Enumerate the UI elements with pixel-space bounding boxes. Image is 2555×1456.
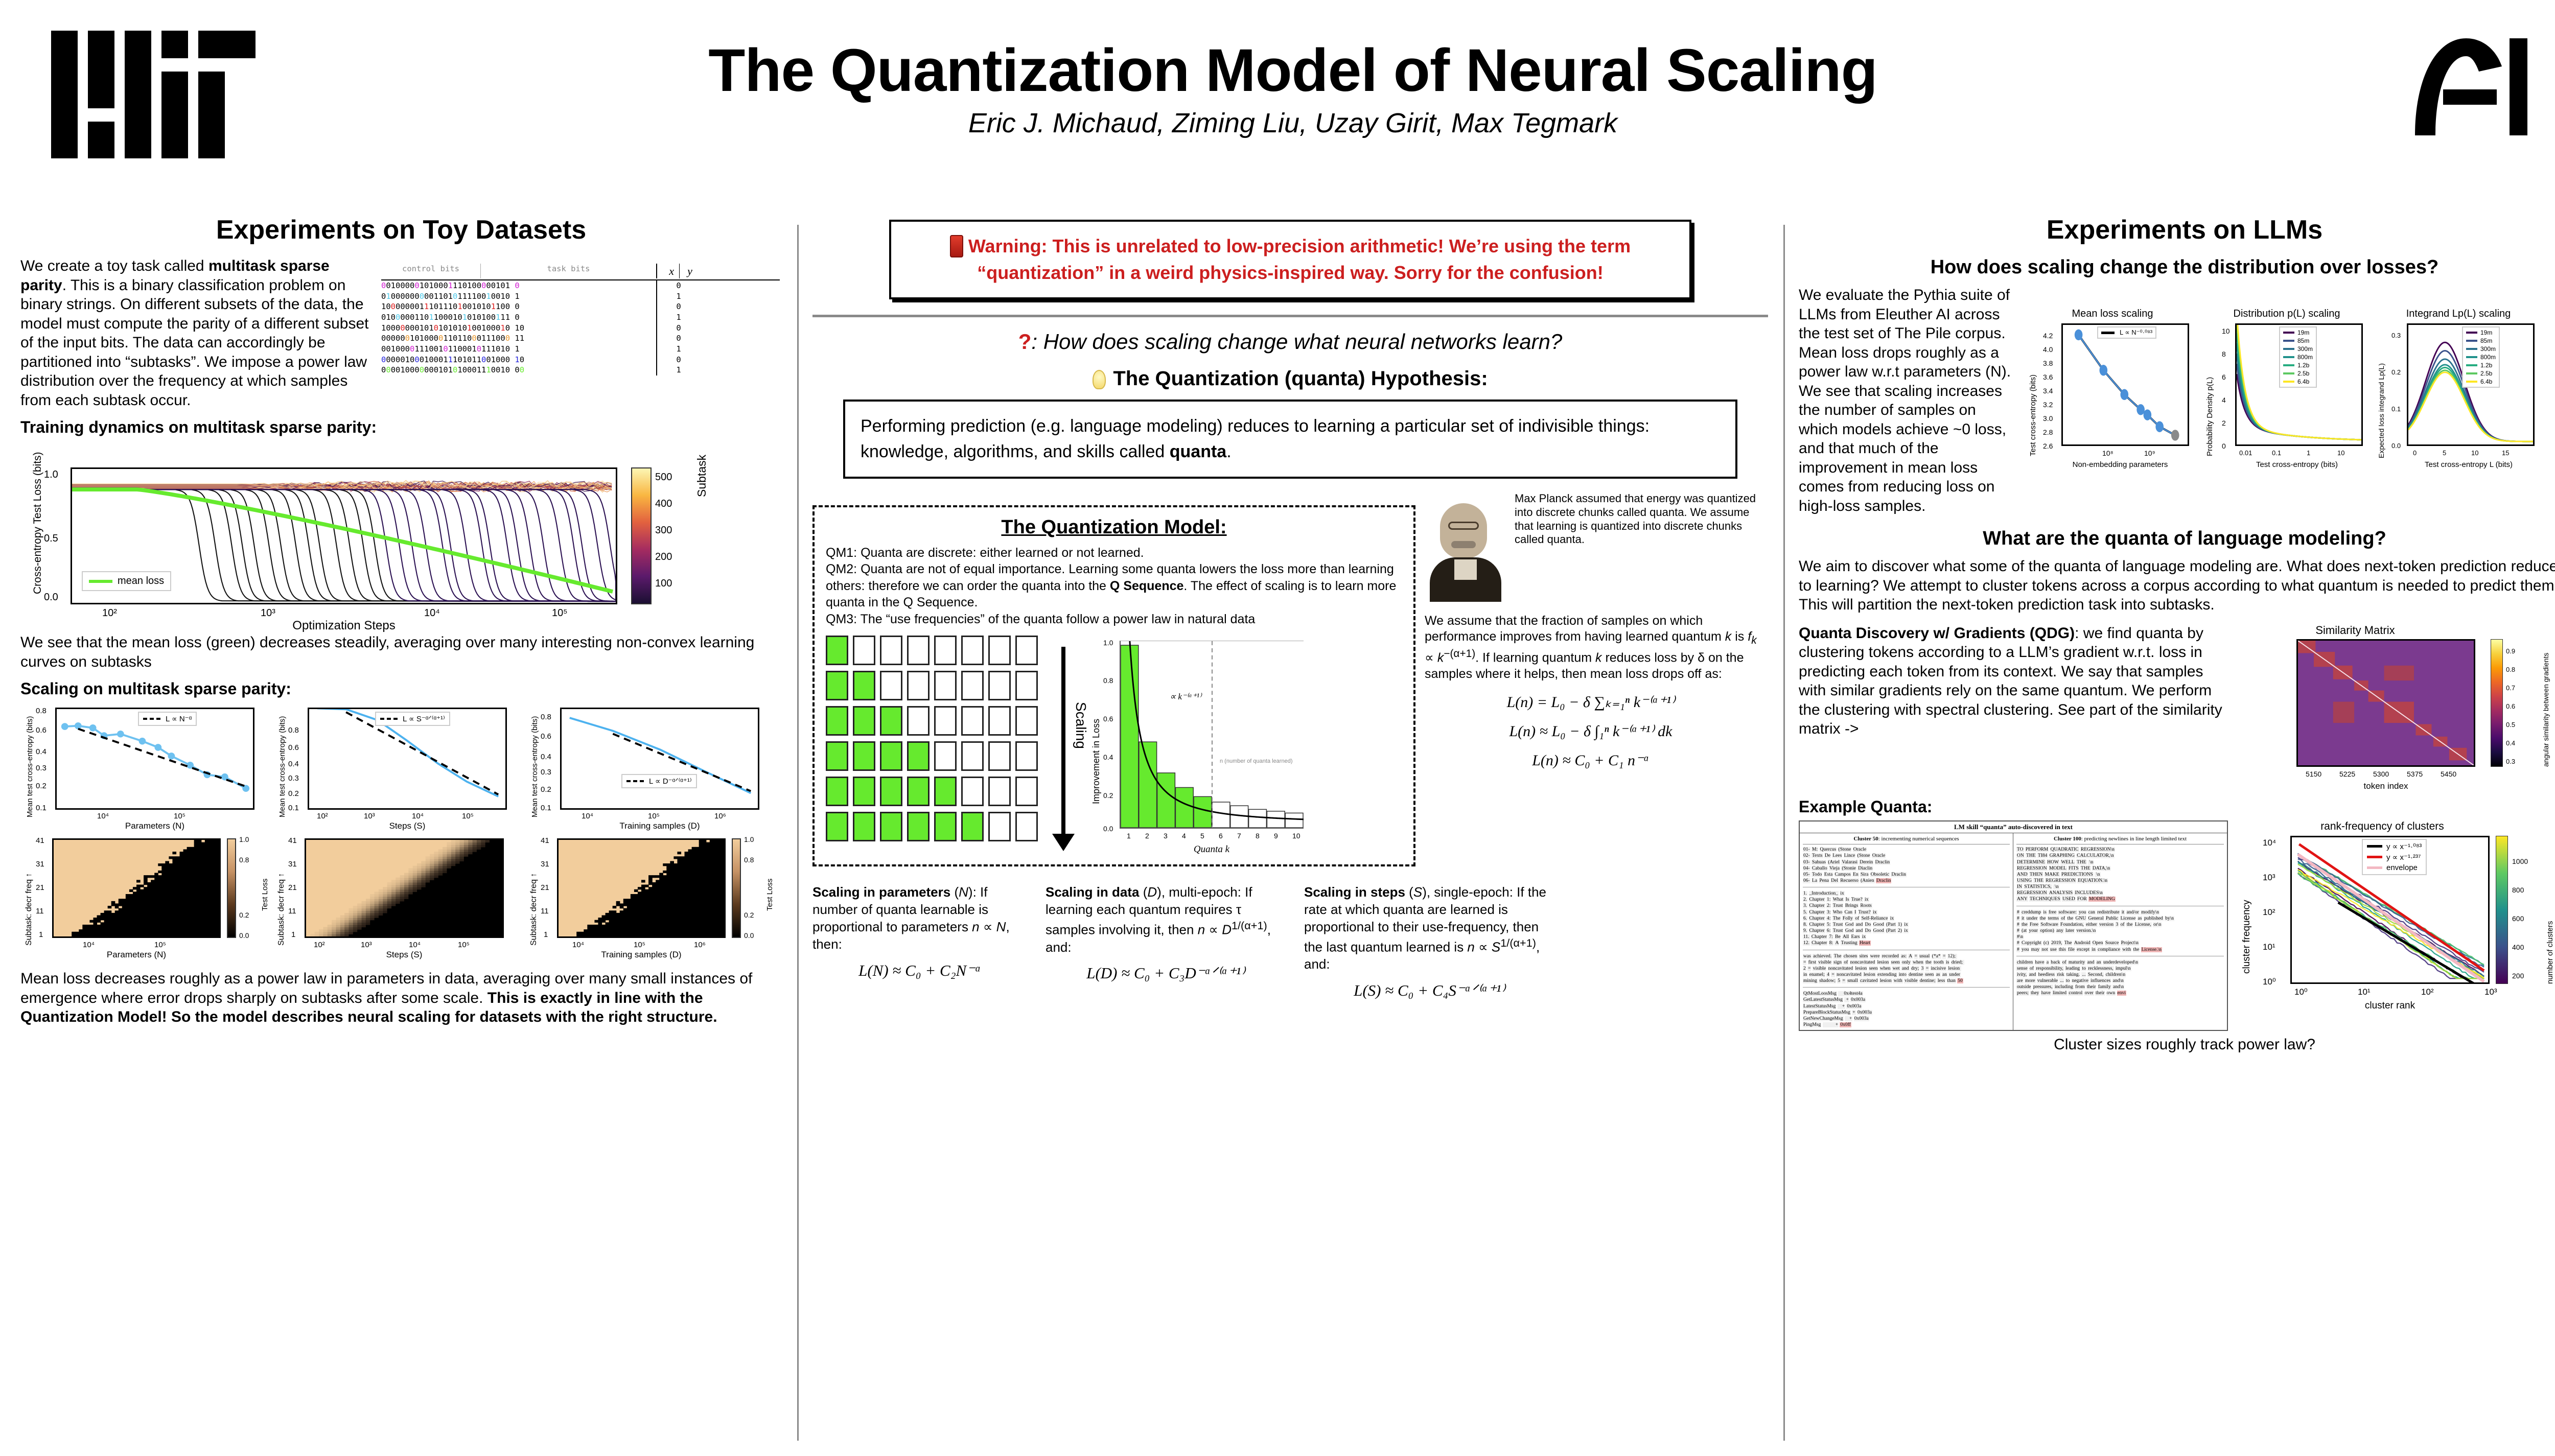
hd-plot [557, 838, 726, 938]
mls-legend: L ∝ N⁻⁰·⁰⁸³ [2097, 326, 2156, 339]
llm-charts-row: Mean loss scaling Test cross-entropy (bi… [2026, 308, 2543, 477]
sd-legend-label: L ∝ D⁻ᵅᐟ⁽ᵅ⁺¹⁾ [649, 777, 692, 786]
quanta-text-line: 3. Chapter 2: Trust Brings Roots [1803, 903, 2010, 909]
pl-legend: 19m85m300m800m1.2b2.5b6.4b [2279, 326, 2317, 388]
hs-plot [305, 838, 504, 938]
quantum-learned [853, 741, 875, 771]
mls-title: Mean loss scaling [2026, 308, 2199, 320]
lpl-legend-entry: 800m [2466, 354, 2496, 361]
sim-cb-tick: 0.3 [2506, 758, 2515, 765]
sp-xt-2: 10⁵ [174, 812, 185, 820]
quantum-learned [907, 741, 930, 771]
ai-logo [2405, 28, 2533, 146]
lpl-xt-2: 5 [2443, 449, 2446, 457]
bit-string: 001000011100101100010111010 1 [381, 344, 657, 355]
quanta-text-line: 06- La Pena Del Recuerso (Anien Draclin [1803, 878, 2010, 884]
quanta-text-line: ON THE TI84 GRAPHING CALCULATOR,\n [2016, 853, 2224, 859]
quantum-learned [826, 777, 848, 806]
left-column-title: Experiments on Toy Datasets [20, 215, 782, 245]
table-cell-y: 1 [657, 344, 700, 355]
cbar-tick-100: 100 [655, 578, 672, 590]
xtick-4: 10⁵ [552, 607, 568, 619]
pl-xt-4: 10 [2337, 449, 2344, 457]
bit-string: 000001000100011101011001000 10 [381, 355, 657, 365]
pl-ytick: 10 [2222, 327, 2230, 335]
bit-table-header: control bits task bits x y [381, 264, 780, 280]
mls-ytick: 3.2 [2043, 401, 2053, 409]
rf-ytick: 10¹ [2263, 942, 2275, 952]
lpl-legend-entry: 6.4b [2466, 378, 2492, 385]
il-plot [1120, 641, 1304, 829]
col-header-x: x [657, 264, 680, 278]
lpl-ytick: 0.3 [2391, 332, 2401, 339]
hs-xt-4: 10⁵ [458, 941, 470, 949]
quanta-text-line: AND THEN MAKE PREDICTIONS \n [2016, 872, 2224, 878]
quantum-learned [880, 812, 902, 841]
sim-xtick: 5450 [2441, 770, 2456, 778]
hd-xlabel: Training samples (D) [557, 950, 726, 960]
sp-yt-08: 0.8 [36, 707, 47, 715]
qm-item-2: QM2: Quanta are not of equal importance.… [826, 561, 1402, 611]
table-cell-y: 1 [657, 365, 700, 375]
warning-box: Warning: This is unrelated to low-precis… [889, 220, 1691, 299]
figure-integrand-LpL: Integrand Lp(L) scaling Expected loss in… [2374, 308, 2543, 477]
sd-yt-08: 0.8 [541, 713, 551, 721]
mls-ylabel: Test cross-entropy (bits) [2029, 374, 2037, 456]
ss-legend: L ∝ S⁻ᵅᐟ⁽ᵅ⁺¹⁾ [375, 712, 450, 726]
quanta-text-line: are more vulnerable ... to negative infl… [2016, 978, 2224, 984]
quantum-unlearned [934, 671, 957, 700]
ss-yt-06: 0.6 [288, 743, 299, 752]
left-column: Experiments on Toy Datasets We create a … [20, 215, 782, 1027]
pl-title: Distribution p(L) scaling [2202, 308, 2371, 320]
quanta-text-line: 2. Chapter 1: What Is True? ix [1803, 897, 2010, 903]
bit-string: 010000011011000101010100111 0 [381, 312, 657, 323]
quantum-unlearned [988, 671, 1011, 700]
quantum-learned [880, 741, 902, 771]
bit-string: 100000001010101010100100010 10 [381, 323, 657, 334]
research-question: ?: How does scaling change what neural n… [812, 330, 1768, 354]
right-sub-title-1: How does scaling change the distribution… [1799, 256, 2555, 278]
mls-xlabel: Non-embedding parameters [2046, 460, 2194, 469]
quantum-unlearned [934, 741, 957, 771]
ytick-3: 0.0 [44, 592, 58, 603]
left-bottom-text: Mean loss decreases roughly as a power l… [20, 969, 782, 1027]
hd-ylabel: Subtask: decr freq ↑ [529, 873, 539, 946]
planck-block: Max Planck assumed that energy was quant… [1425, 492, 1757, 602]
pl-xt-3: 1 [2307, 449, 2310, 457]
lpl-ytick: 0.1 [2391, 405, 2401, 413]
sim-xtick: 5150 [2306, 770, 2321, 778]
poster-header: The Quantization Model of Neural Scaling… [0, 0, 2555, 215]
table-row: 010000000001101011110010010 11 [381, 291, 780, 302]
mls-legend-swatch [2101, 332, 2115, 334]
cluster-50-block-4: QtMostLoosMsg 0x4test4aGetLatestStatusMs… [1803, 991, 2010, 1028]
right-column-title: Experiments on LLMs [1799, 215, 2555, 245]
hs-yt-31: 31 [288, 860, 297, 868]
max-planck-photo [1425, 492, 1506, 602]
hp-yt-41: 41 [36, 836, 44, 845]
sim-cb-tick: 0.9 [2506, 647, 2515, 655]
hp-cb-08: 0.8 [239, 856, 249, 864]
cluster-100-head: Cluster 100: predicting newlines in line… [2016, 835, 2224, 844]
hp-xlabel: Parameters (N) [52, 950, 221, 960]
quantum-learned [907, 777, 930, 806]
warning-text: Warning: This is unrelated to low-precis… [904, 233, 1676, 286]
lpl-title: Integrand Lp(L) scaling [2374, 308, 2543, 320]
hd-yt-11: 11 [541, 907, 549, 915]
right-text-2: We aim to discover what some of the quan… [1799, 557, 2555, 615]
il-yt-04: 0.4 [1103, 753, 1113, 761]
sp-yt-03: 0.3 [36, 764, 47, 772]
pl-ylabel: Probability Density p(L) [2205, 377, 2214, 456]
quanta-text-line: in enamel; 4 = noncavitated lesion exten… [1803, 972, 2010, 978]
figure-similarity-matrix: Similarity Matrix 0.30.40.50.60.70.80.9 … [2235, 624, 2555, 792]
rf-legend-entry: y ∝ x⁻¹·²³⁷ [2367, 853, 2421, 862]
quanta-text-line: # it under the terms of the GNU General … [2016, 915, 2224, 922]
bit-table-body: 001000001010001110100000101 000100000000… [381, 280, 780, 375]
quantum-unlearned [1015, 636, 1038, 665]
figure-scaling-parameters: Mean test cross-entropy (bits) 0.8 0.6 0… [20, 702, 266, 830]
ss-xlabel: Steps (S) [308, 821, 507, 831]
legend-label-mean-loss: mean loss [118, 575, 164, 587]
pl-ytick: 8 [2222, 350, 2226, 358]
bit-string: 001000001010001110100000101 0 [381, 280, 657, 291]
middle-column: Warning: This is unrelated to low-precis… [812, 215, 1768, 1001]
rf-cb-tick: 1000 [2512, 857, 2528, 865]
hs-ylabel: Subtask: decr freq ↑ [277, 873, 286, 946]
quantum-learned [853, 777, 875, 806]
sp-yt-02: 0.2 [36, 782, 47, 790]
training-dynamics-note: We see that the mean loss (green) decrea… [20, 633, 782, 671]
table-cell-y: 0 [657, 280, 700, 291]
right-sub-title-2: What are the quanta of language modeling… [1799, 528, 2555, 550]
cluster-50-head: Cluster 50: incrementing numerical seque… [1803, 835, 2010, 844]
sd-yt-02: 0.2 [541, 785, 551, 794]
warning-battery-icon [950, 235, 963, 257]
quantum-unlearned [961, 777, 984, 806]
cluster-100-block-1: TO PERFORM QUADRATIC REGRESSION\nON THE … [2016, 847, 2224, 902]
rf-ytick: 10⁴ [2263, 838, 2276, 848]
sd-legend-swatch [626, 780, 644, 782]
poster-authors: Eric J. Michaud, Ziming Liu, Uzay Girit,… [327, 107, 2259, 139]
quanta-text-line: REGRESSION ANALYSIS INCLUDES\n [2016, 890, 2224, 896]
il-annotation-2: n (number of quanta learned) [1220, 758, 1307, 764]
table-row: 010000011011000101010100111 01 [381, 312, 780, 323]
quantum-unlearned [1015, 812, 1038, 841]
warning-message: Warning: This is unrelated to low-precis… [968, 236, 1631, 283]
quanta-text-line: sense of responsibility, leading to reck… [2016, 966, 2224, 972]
rf-cb-tick: 200 [2512, 972, 2524, 980]
cluster-100-block-3: children have a back of maturity and an … [2016, 959, 2224, 997]
quantum-unlearned [907, 636, 930, 665]
table-row: 100000001010101010100100010 100 [381, 323, 780, 334]
sim-cb-tick: 0.8 [2506, 666, 2515, 673]
quanta-text-line: 05- Todo Esta Campos En Sira Obsoletic D… [1803, 872, 2010, 878]
il-xtick: 5 [1200, 832, 1204, 840]
ss-xt-4: 10⁵ [462, 812, 474, 820]
hs-yt-1: 1 [291, 930, 295, 939]
col-header-control-bits: control bits [381, 264, 481, 278]
hd-colorbar [732, 838, 741, 938]
hypothesis-heading-text: The Quantization (quanta) Hypothesis: [1113, 367, 1488, 390]
table-row: 000001000100011101011001000 100 [381, 355, 780, 365]
ss-legend-swatch [380, 718, 398, 720]
equation-1: L(n) = L₀ − δ ∑ₖ₌₁ⁿ k⁻⁽ᵅ⁺¹⁾ [1425, 693, 1757, 711]
quantum-learned [853, 706, 875, 736]
hypothesis-box: Performing prediction (e.g. language mod… [843, 400, 1737, 479]
cluster-50-block-3: was achieved. The chosen sites were reco… [1803, 953, 2010, 984]
il-yt-00: 0.0 [1103, 825, 1113, 833]
hp-yt-31: 31 [36, 860, 44, 868]
sp-legend-swatch [143, 718, 160, 720]
table-row: 001000001010001110100000101 00 [381, 280, 780, 291]
figure-training-dynamics: Cross-entropy Test Loss (bits) 1.0 0.5 0… [20, 441, 782, 630]
table-row: 001000011100101100010111010 11 [381, 344, 780, 355]
il-yt-02: 0.2 [1103, 791, 1113, 800]
bit-string: 000010000000101010001110010 00 [381, 365, 657, 375]
hd-xt-2: 10⁵ [634, 941, 645, 949]
quantum-unlearned [988, 706, 1011, 736]
quanta-text-line: 02- Texts De Lees Lince (Stone Oracle [1803, 853, 2010, 859]
lpl-legend: 19m85m300m800m1.2b2.5b6.4b [2462, 326, 2500, 388]
hd-xt-3: 10⁶ [694, 941, 706, 949]
pl-xt-2: 0.1 [2272, 449, 2281, 457]
hp-xt-1: 10⁴ [83, 941, 95, 949]
rf-ytick: 10² [2263, 907, 2275, 918]
lpl-xt-3: 10 [2471, 449, 2478, 457]
hp-ylabel: Subtask: decr freq ↑ [25, 873, 34, 946]
sd-xt-1: 10⁴ [582, 812, 593, 820]
bit-string: 100000001110111010010101100 0 [381, 301, 657, 312]
quanta-text-line: peers; they have limited control over th… [2016, 990, 2224, 996]
quantum-learned [853, 812, 875, 841]
pl-ytick: 6 [2222, 373, 2226, 381]
il-xtick: 6 [1219, 832, 1223, 840]
quantum-learned [826, 706, 848, 736]
quanta-text-line: 9. Chapter 6: Trust God and Do Good (Par… [1803, 928, 2010, 934]
quanta-text-line: 12. Chapter 8: A Trusting Heart [1803, 940, 2010, 946]
lpl-legend-entry: 2.5b [2466, 370, 2492, 377]
ss-yt-01: 0.1 [288, 804, 299, 812]
qdg-text: Quanta Discovery w/ Gradients (QDG): we … [1799, 624, 2228, 739]
hp-yt-11: 11 [36, 907, 44, 915]
pl-ytick: 2 [2222, 419, 2226, 427]
ss-legend-label: L ∝ S⁻ᵅᐟ⁽ᵅ⁺¹⁾ [403, 714, 445, 723]
mls-ytick: 2.8 [2043, 428, 2053, 436]
qm-item-1: QM1: Quanta are discrete: either learned… [826, 545, 1402, 561]
il-xtick: 10 [1292, 832, 1300, 840]
sp-ylabel: Mean test cross-entropy (bits) [26, 716, 34, 817]
quanta-text-line: 6. Chapter 4: The Folly of Self-Reliance… [1803, 915, 2010, 922]
quantum-unlearned [934, 706, 957, 736]
equation-3: L(n) ≈ C₀ + C₁ n⁻ᵅ [1425, 752, 1757, 769]
rf-title: rank-frequency of clusters [2255, 820, 2510, 833]
hd-cb-08: 0.8 [744, 856, 754, 864]
rf-cb-tick: 800 [2512, 886, 2524, 894]
quanta-text-line: TO PERFORM QUADRATIC REGRESSION\n [2016, 847, 2224, 853]
bit-table: control bits task bits x y 0010000010100… [381, 264, 780, 375]
figure-scaling-steps: Mean test cross-entropy (bits) 0.8 0.6 0… [273, 702, 518, 830]
sim-cb-tick: 0.6 [2506, 702, 2515, 710]
quantum-learned [907, 812, 930, 841]
pl-ytick: 4 [2222, 396, 2226, 404]
figure-scaling-data: Mean test cross-entropy (bits) 0.8 0.6 0… [525, 702, 771, 830]
il-xtick: 7 [1237, 832, 1241, 840]
sim-cb-tick: 0.4 [2506, 739, 2515, 747]
bit-string: 000000101000011011000111000 11 [381, 333, 657, 344]
figure-rank-frequency: rank-frequency of clusters cluster frequ… [2234, 820, 2555, 1025]
quanta-text-line: # creddump is free software: you can red… [2016, 909, 2224, 915]
rf-legend-entry: envelope [2367, 863, 2418, 872]
quanta-text-line: DETERMINE HOW WELL THE \n [2016, 859, 2224, 865]
quanta-grid-row [826, 706, 1038, 736]
sim-colorbar [2491, 639, 2503, 767]
quantum-unlearned [880, 636, 902, 665]
hp-xt-2: 10⁵ [154, 941, 166, 949]
ss-ylabel: Mean test cross-entropy (bits) [278, 716, 287, 817]
il-xtick: 8 [1256, 832, 1260, 840]
quantum-unlearned [1015, 741, 1038, 771]
scaling-block-parameters-text: Scaling in parameters (N): If number of … [812, 884, 1027, 953]
training-dynamics-legend: mean loss [82, 571, 171, 591]
quantum-learned [934, 812, 957, 841]
quanta-text-line: = first visible sign of noncavitated les… [1803, 959, 2010, 966]
cbar-tick-400: 400 [655, 498, 672, 510]
sd-plot [560, 708, 759, 810]
table-cell-y: 0 [657, 333, 700, 344]
right-column: Experiments on LLMs How does scaling cha… [1799, 215, 2555, 1053]
cluster-caption: Cluster sizes roughly track power law? [1799, 1036, 2555, 1053]
table-cell-y: 1 [657, 291, 700, 302]
hp-colorbar [227, 838, 236, 938]
training-dynamics-xlabel: Optimization Steps [71, 619, 617, 633]
quanta-table-title: LM skill “quanta” auto-discovered in tex… [1800, 821, 2227, 834]
il-yt-06: 0.6 [1103, 715, 1113, 723]
example-quanta-head: Example Quanta: [1799, 797, 2555, 816]
sp-yt-04: 0.4 [36, 747, 47, 756]
quanta-text-line: PrepareBlockStatusMsg + 0x003a [1803, 1009, 2010, 1016]
sim-cb-tick: 0.5 [2506, 721, 2515, 729]
heatmap-row: Subtask: decr freq ↑ 41 31 21 11 1 1.0 0… [20, 834, 782, 962]
ss-yt-02: 0.2 [288, 789, 299, 798]
section-divider [812, 315, 1768, 317]
quanta-text-line: GetNewChangeMsg + 0x003a [1803, 1016, 2010, 1022]
scaling-block-steps: Scaling in steps (S), single-epoch: If t… [1304, 884, 1554, 1001]
rf-cb-tick: 400 [2512, 943, 2524, 951]
lpl-legend-entry: 300m [2466, 345, 2496, 353]
mit-logo [51, 31, 245, 158]
derivation-text: We assume that the fraction of samples o… [1425, 613, 1757, 682]
pl-legend-entry: 800m [2283, 354, 2313, 361]
scaling-lineplots-row: Mean test cross-entropy (bits) 0.8 0.6 0… [20, 702, 782, 830]
planck-caption: Max Planck assumed that energy was quant… [1515, 492, 1757, 602]
hp-cb-00: 0.0 [239, 931, 249, 940]
lpl-legend-entry: 85m [2466, 337, 2492, 344]
training-dynamics-title: Training dynamics on multitask sparse pa… [20, 418, 782, 437]
pl-legend-entry: 19m [2283, 329, 2309, 336]
mls-ytick: 2.6 [2043, 442, 2053, 450]
rf-colorbar [2496, 836, 2508, 984]
quanta-grid-row [826, 812, 1038, 841]
ss-xt-3: 10⁴ [412, 812, 424, 820]
sim-plot [2296, 639, 2475, 767]
mls-ytick: 4.0 [2043, 345, 2053, 354]
pl-legend-entry: 85m [2283, 337, 2309, 344]
training-dynamics-ylabel: Cross-entropy Test Loss (bits) [32, 452, 44, 594]
hs-yt-41: 41 [288, 836, 297, 845]
figure-improvement-in-loss: Improvement in Loss 1.0 0.8 0.6 0.4 0.2 … [1088, 636, 1313, 855]
hs-xt-2: 10³ [361, 941, 372, 949]
quanta-text-line: 04- Caballo Vieja (Stonie Diaclin [1803, 865, 2010, 872]
scaling-block-parameters-eq: L(N) ≈ C₀ + C₂N⁻ᵅ [812, 960, 1027, 981]
rf-xtick: 10² [2421, 987, 2434, 997]
rf-legend: y ∝ x⁻¹·⁰⁸³y ∝ x⁻¹·²³⁷envelope [2362, 839, 2427, 875]
rf-xtick: 10¹ [2358, 987, 2371, 997]
quanta-grid-row [826, 741, 1038, 771]
hd-cb-02: 0.2 [744, 911, 754, 919]
table-row: 100000001110111010010101100 00 [381, 301, 780, 312]
quantum-unlearned [961, 706, 984, 736]
hp-cb-02: 0.2 [239, 911, 249, 919]
subtask-colorbar [631, 467, 652, 604]
lpl-legend-entry: 1.2b [2466, 362, 2492, 369]
sp-xt-1: 10⁴ [97, 812, 109, 820]
quantum-unlearned [1015, 671, 1038, 700]
cluster-50-block-1: 01- M: Quercus (Stone Oracle02- Texts De… [1803, 847, 2010, 884]
quanta-text-line: 11. Chapter 7: Be All Ears ix [1803, 934, 2010, 940]
hp-plot [52, 838, 221, 938]
quantum-unlearned [988, 636, 1011, 665]
xtick-2: 10³ [261, 607, 275, 619]
quanta-text-line: was achieved. The chosen sites were reco… [1803, 953, 2010, 959]
quantum-unlearned [988, 812, 1011, 841]
table-cell-y: 0 [657, 301, 700, 312]
quanta-grid [826, 636, 1038, 847]
quanta-text-line: mining shadow; 5 = small cavitated lesio… [1803, 978, 2010, 984]
column-divider-left [797, 225, 799, 1441]
quantum-unlearned [853, 636, 875, 665]
sim-cb-tick: 0.7 [2506, 684, 2515, 692]
question-mark-icon: ? [1018, 330, 1032, 354]
ss-yt-03: 0.3 [288, 774, 299, 783]
quanta-text-line: # you may not use this file except in co… [2016, 947, 2224, 953]
quanta-text-line: GetLatestStatusMsg + 0x003a [1803, 997, 2010, 1003]
pl-ytick: 0 [2222, 442, 2226, 450]
quantization-model-box: The Quantization Model: QM1: Quanta are … [812, 505, 1415, 867]
figure-distribution-pL: Distribution p(L) scaling Probability De… [2202, 308, 2371, 477]
xtick-3: 10⁴ [424, 607, 440, 619]
hp-cb-10: 1.0 [239, 835, 249, 843]
hd-yt-21: 21 [541, 883, 549, 892]
quanta-grid-row [826, 636, 1038, 665]
legend-swatch-mean-loss [89, 580, 112, 583]
quanta-text-line: #\n [2016, 934, 2224, 940]
quantum-learned [880, 706, 902, 736]
scaling-block-steps-text: Scaling in steps (S), single-epoch: If t… [1304, 884, 1554, 973]
sd-xt-2: 10⁵ [648, 812, 660, 820]
quanta-text-line: children have a back of maturity and an … [2016, 959, 2224, 966]
scaling-blocks-row: Scaling in parameters (N): If number of … [812, 884, 1768, 1001]
il-xtick: 1 [1127, 832, 1131, 840]
sim-title: Similarity Matrix [2235, 624, 2475, 637]
quanta-text-line: 5. Chapter 3: Who Can I Trust? ix [1803, 909, 2010, 915]
quantum-unlearned [907, 706, 930, 736]
ytick-2: 0.5 [44, 533, 58, 545]
sd-yt-01: 0.1 [541, 804, 551, 812]
ss-xt-1: 10² [317, 812, 328, 820]
scaling-block-data: Scaling in data (D), multi-epoch: If lea… [1046, 884, 1286, 1001]
